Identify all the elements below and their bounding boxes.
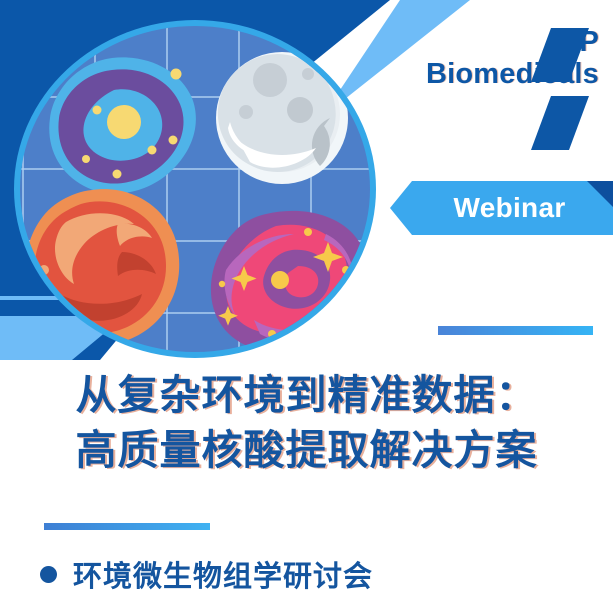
logo-mark-icon (525, 26, 599, 154)
webinar-poster: MP Biomedicals Webinar 从复杂环境到精准数据： 高质量核酸… (0, 0, 613, 594)
webinar-badge-label: Webinar (412, 181, 613, 235)
footer-subtitle-row: 环境微生物组学研讨会 (40, 553, 373, 594)
colony-galaxy-pink-icon (206, 208, 370, 352)
title-line-1: 从复杂环境到精准数据： (0, 368, 613, 423)
webinar-badge: Webinar (412, 181, 613, 235)
page-title: 从复杂环境到精准数据： 高质量核酸提取解决方案 (0, 368, 613, 478)
colony-purple-teal-icon (42, 54, 202, 204)
footer-divider (44, 523, 210, 530)
accent-bar (438, 326, 593, 335)
title-line-2: 高质量核酸提取解决方案 (0, 423, 613, 478)
colony-orange-red-icon (22, 188, 187, 348)
brand-logo: MP Biomedicals (426, 26, 599, 91)
petri-dish-agar (20, 26, 370, 352)
petri-dish-illustration (14, 20, 376, 358)
ribbon-notch (390, 181, 412, 235)
footer-subtitle: 环境微生物组学研讨会 (73, 553, 373, 594)
colony-moon-gray-icon (212, 48, 352, 188)
bullet-dot-icon (40, 566, 57, 583)
